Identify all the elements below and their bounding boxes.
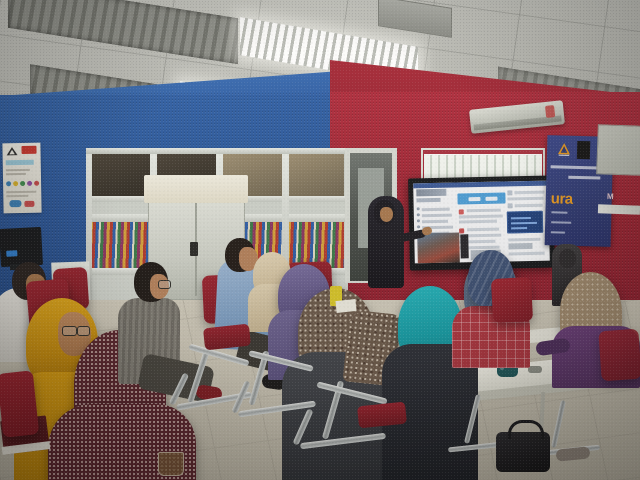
eyeglasses	[77, 326, 90, 336]
monitor-logo	[6, 250, 17, 257]
sidebar-bullet[interactable]	[417, 213, 420, 216]
sidebar-bullet[interactable]	[417, 219, 420, 222]
photo-scene: ura M	[0, 0, 640, 480]
right-rail-line	[514, 191, 544, 194]
chair-back[interactable]	[491, 277, 533, 323]
right-rail-block	[508, 243, 532, 250]
banner-text-line	[551, 165, 599, 169]
poster-color-dot	[13, 181, 18, 186]
sidebar-bullet[interactable]	[417, 207, 420, 210]
ad-card-line	[511, 217, 531, 219]
right-rail-line	[507, 197, 543, 200]
poster-brand-block	[21, 146, 36, 154]
banner-small-line	[551, 231, 565, 233]
banner-headline: ura	[551, 191, 573, 207]
poster-color-dot	[20, 181, 25, 186]
poster-icon-blue	[9, 200, 21, 207]
safety-poster	[2, 143, 41, 214]
plastic-cup[interactable]	[158, 452, 184, 476]
sidebar-row[interactable]	[422, 214, 452, 218]
partition-mullion-top	[86, 148, 348, 154]
chair-back[interactable]	[598, 329, 640, 382]
sidebar-row[interactable]	[422, 208, 450, 212]
poster-text-line	[6, 195, 28, 197]
poster-text-line	[6, 169, 30, 171]
keys-on-table[interactable]	[528, 366, 542, 373]
eyeglasses	[158, 280, 171, 289]
poster-color-dot	[34, 181, 39, 186]
feed-dark-object	[460, 234, 469, 258]
post-text-line	[467, 228, 499, 231]
banner-text-line	[568, 176, 600, 179]
poster-text-line	[6, 173, 26, 175]
handbag-strap	[508, 420, 544, 439]
post-text-line	[459, 220, 497, 223]
poster-logo-icon	[5, 146, 18, 156]
banner-button-2[interactable]	[485, 197, 497, 201]
shelved-books-left	[90, 222, 152, 268]
partition-pane-top-1	[90, 154, 152, 196]
banner-dark-logo	[577, 141, 590, 159]
banner-logo-icon	[555, 141, 573, 156]
banner-small-line	[551, 221, 571, 224]
desktop-monitor[interactable]	[0, 227, 43, 267]
doily-fringe	[144, 199, 248, 207]
wall-small-marking: M	[607, 192, 614, 201]
right-rail-avatar	[507, 190, 512, 195]
right-rail-line	[508, 238, 540, 241]
poster-color-dot	[27, 181, 32, 186]
partition-pane-top-4	[288, 154, 344, 196]
right-rail-line	[515, 204, 543, 207]
grey-notice-board	[596, 124, 640, 176]
post-avatar	[459, 228, 464, 233]
post-avatar	[459, 209, 464, 214]
feed-promo-banner[interactable]	[457, 192, 505, 204]
poster-headline	[6, 160, 34, 165]
paper-on-table	[335, 299, 356, 313]
ad-card-line	[511, 222, 537, 225]
feed-ad-card[interactable]	[507, 211, 543, 234]
post-text-line	[459, 215, 503, 218]
ad-card-line	[511, 227, 527, 229]
sidebar-bullet[interactable]	[417, 225, 420, 228]
cabinet-handle	[190, 242, 198, 256]
person-right-head	[559, 249, 576, 268]
eyeglasses	[62, 326, 77, 336]
poster-color-dot	[6, 181, 11, 186]
poster-text-line	[6, 191, 36, 194]
banner-button-1[interactable]	[468, 197, 480, 201]
right-rail-line	[509, 252, 545, 255]
ac-indicator-light	[545, 105, 555, 118]
page-subtitle	[416, 198, 440, 203]
tv-screen-content[interactable]	[413, 181, 550, 264]
chair-back[interactable]	[0, 370, 39, 437]
poster-icon-red	[24, 201, 34, 207]
page-logo	[416, 189, 446, 197]
right-rail-avatar	[508, 203, 513, 208]
post-text-line	[467, 209, 501, 212]
wall-name-strip	[598, 204, 640, 214]
banner-small-line	[551, 211, 567, 213]
sidebar-row[interactable]	[422, 220, 448, 224]
page-topbar	[413, 181, 548, 189]
presenter-face	[380, 207, 393, 222]
